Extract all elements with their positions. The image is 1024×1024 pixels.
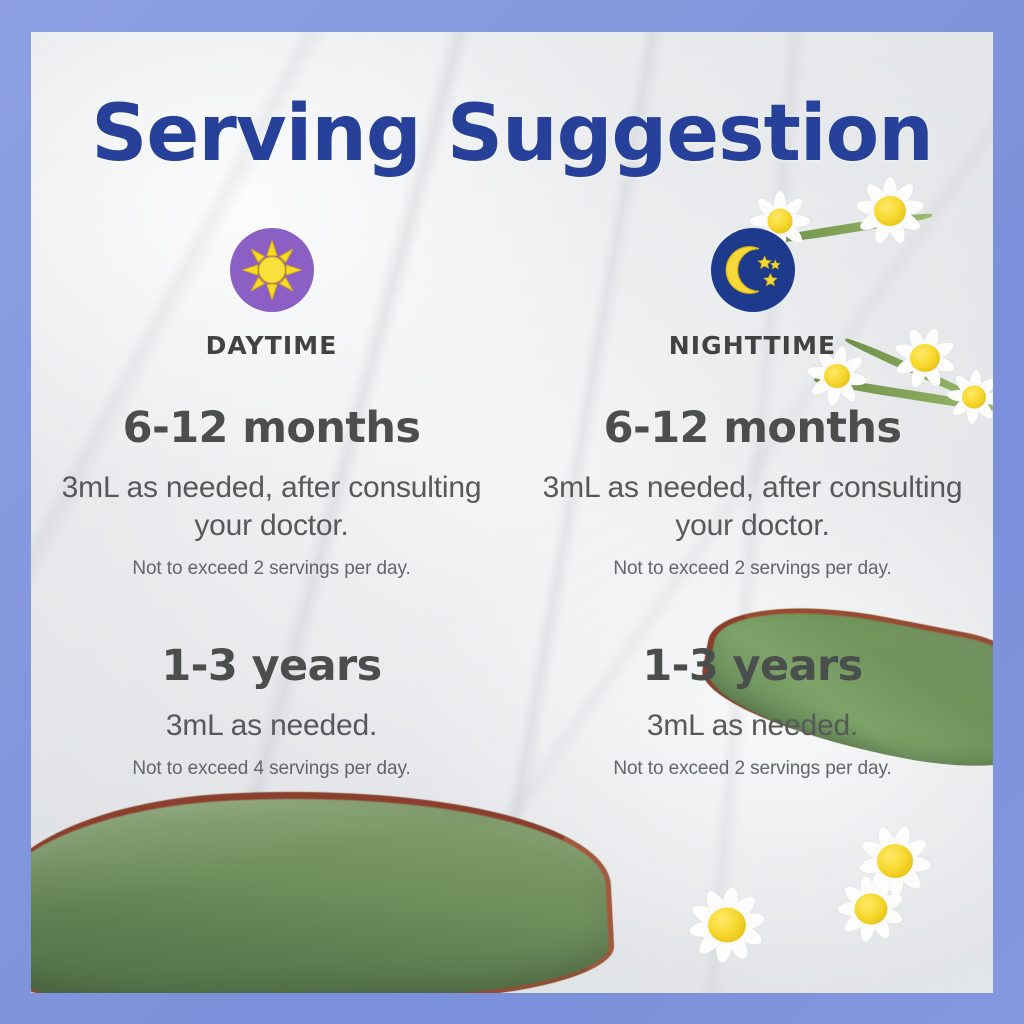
flower-petal xyxy=(894,853,932,874)
dose-limit: Not to exceed 2 servings per day. xyxy=(512,758,993,780)
sun-icon xyxy=(241,239,303,301)
dose-block-nighttime-1-3-years: 1-3 years 3mL as needed. Not to exceed 2… xyxy=(512,644,993,780)
night-badge xyxy=(711,228,795,312)
flower-petal xyxy=(726,910,766,933)
flower-petal xyxy=(719,886,741,926)
flower-petal xyxy=(858,908,879,943)
marble-panel: Serving Suggestion xyxy=(31,32,993,993)
flower-petal xyxy=(841,882,876,915)
flower-petal xyxy=(841,903,876,936)
dose-block-nighttime-6-12-months: 6-12 months 3mL as needed, after consult… xyxy=(512,406,993,580)
chamomile-flower xyxy=(829,867,913,951)
flower-petal xyxy=(689,901,731,933)
flower-petal xyxy=(859,837,898,868)
flower-petal xyxy=(887,861,904,898)
flower-petal xyxy=(868,891,904,916)
dose-amount: 3mL as needed. xyxy=(31,707,512,745)
column-nighttime: NIGHTTIME 6-12 months 3mL as needed, aft… xyxy=(512,228,993,780)
flower-core xyxy=(855,894,888,925)
dose-amount: 3mL as needed, after consulting your doc… xyxy=(512,469,993,546)
flower-petal xyxy=(883,177,898,211)
flower-petal xyxy=(855,198,891,219)
flower-petal xyxy=(889,198,925,219)
flower-petal xyxy=(865,877,894,913)
flower-petal xyxy=(721,892,760,931)
flower-petal xyxy=(713,924,735,964)
dose-limit: Not to exceed 4 servings per day. xyxy=(31,758,512,780)
flower-petal xyxy=(694,919,733,958)
moon-icon xyxy=(722,239,784,301)
flower-petal xyxy=(780,215,810,228)
flower-petal xyxy=(719,921,752,963)
chamomile-flower xyxy=(849,815,941,907)
flower-petal xyxy=(867,856,902,894)
dose-block-daytime-1-3-years: 1-3 years 3mL as needed. Not to exceed 4… xyxy=(31,644,512,780)
flower-petal xyxy=(887,824,913,863)
flower-petal xyxy=(884,180,917,216)
infographic-frame: Serving Suggestion xyxy=(0,0,1024,1024)
flower-core xyxy=(708,908,746,943)
flower-petal xyxy=(723,917,765,949)
flower-petal xyxy=(838,902,871,917)
dose-amount: 3mL as needed, after consulting your doc… xyxy=(31,469,512,546)
dose-amount: 3mL as needed. xyxy=(512,707,993,745)
flower-core xyxy=(874,196,906,226)
dose-age: 1-3 years xyxy=(512,644,993,690)
aloe-leaf-bottom-left-icon xyxy=(31,774,616,993)
flower-petal xyxy=(891,835,930,868)
column-label-nighttime: NIGHTTIME xyxy=(669,331,837,360)
dose-age: 6-12 months xyxy=(512,406,993,452)
flower-petal xyxy=(774,191,787,221)
chamomile-flower xyxy=(679,877,775,973)
dose-age: 6-12 months xyxy=(31,406,512,452)
flower-petal xyxy=(775,195,805,225)
flower-petal xyxy=(858,875,879,910)
flower-petal xyxy=(858,853,897,876)
flower-core xyxy=(877,844,913,878)
flower-petal xyxy=(750,215,780,228)
serving-columns: DAYTIME 6-12 months 3mL as needed, after… xyxy=(31,228,993,780)
flower-petal xyxy=(868,902,904,927)
day-badge xyxy=(230,228,314,312)
flower-petal xyxy=(874,825,902,864)
flower-petal xyxy=(862,180,895,216)
dose-limit: Not to exceed 2 servings per day. xyxy=(512,558,993,580)
dose-limit: Not to exceed 2 servings per day. xyxy=(31,558,512,580)
flower-petal xyxy=(688,917,728,940)
flower-petal xyxy=(865,905,894,941)
aloe-leaf-bottom-left-edge-icon xyxy=(31,774,616,993)
flower-petal xyxy=(702,887,735,929)
chamomile-flowers-bottom-right xyxy=(663,811,983,981)
dose-block-daytime-6-12-months: 6-12 months 3mL as needed, after consult… xyxy=(31,406,512,580)
page-title: Serving Suggestion xyxy=(31,89,993,179)
flower-petal xyxy=(754,195,784,225)
dose-age: 1-3 years xyxy=(31,644,512,690)
column-daytime: DAYTIME 6-12 months 3mL as needed, after… xyxy=(31,228,512,780)
flower-petal xyxy=(889,856,925,893)
column-label-daytime: DAYTIME xyxy=(206,331,338,360)
